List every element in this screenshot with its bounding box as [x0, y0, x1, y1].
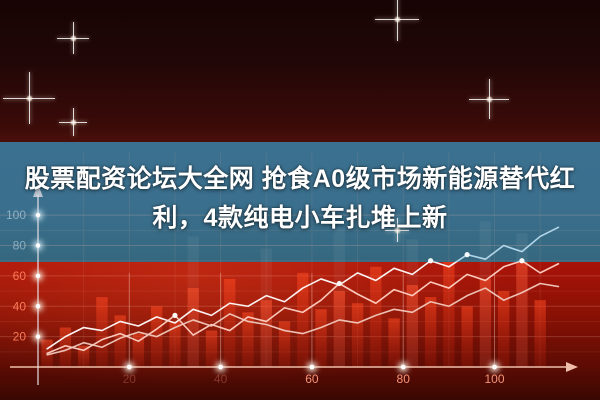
chart-bar: [352, 303, 363, 367]
chart-bar: [206, 331, 217, 367]
y-axis-tick-label: 20: [13, 330, 27, 344]
chart-bar: [388, 318, 399, 367]
page-title-line-1: 股票配资论坛大全网 抢食A0级市场新能源替代红: [0, 160, 600, 199]
page-title: 股票配资论坛大全网 抢食A0级市场新能源替代红 利，4款纯电小车扎堆上新: [0, 160, 600, 238]
x-axis-tick-label: 20: [123, 372, 137, 386]
chart-bar: [425, 297, 436, 367]
screenshot-root: 2040608010020406080100 股票配资论坛大全网 抢食A0级市场…: [0, 0, 600, 400]
chart-bar: [297, 273, 308, 367]
y-axis-tick-label: 40: [13, 299, 27, 313]
background-band-dark: [0, 0, 600, 142]
chart-bar: [443, 261, 454, 367]
chart-bar: [279, 321, 290, 367]
chart-bar: [315, 309, 326, 367]
chart-bar: [334, 227, 345, 367]
page-title-line-2: 利，4款纯电小车扎堆上新: [0, 199, 600, 238]
chart-bar: [407, 239, 418, 367]
chart-bar: [535, 300, 546, 367]
x-axis-tick-label: 100: [485, 372, 505, 386]
x-axis-tick-label: 60: [305, 372, 319, 386]
chart-bar: [516, 233, 527, 367]
x-axis-tick-label: 80: [397, 372, 411, 386]
chart-bar: [96, 297, 107, 367]
chart-bar: [224, 279, 235, 367]
y-axis-tick-label: 60: [13, 269, 27, 283]
chart-bar: [480, 221, 491, 367]
chart-bar: [188, 236, 199, 367]
chart-bar: [261, 249, 272, 367]
chart-bar: [498, 291, 509, 367]
y-axis-tick-label: 80: [13, 239, 27, 253]
chart-bar: [461, 306, 472, 367]
x-axis-tick-label: 40: [214, 372, 228, 386]
